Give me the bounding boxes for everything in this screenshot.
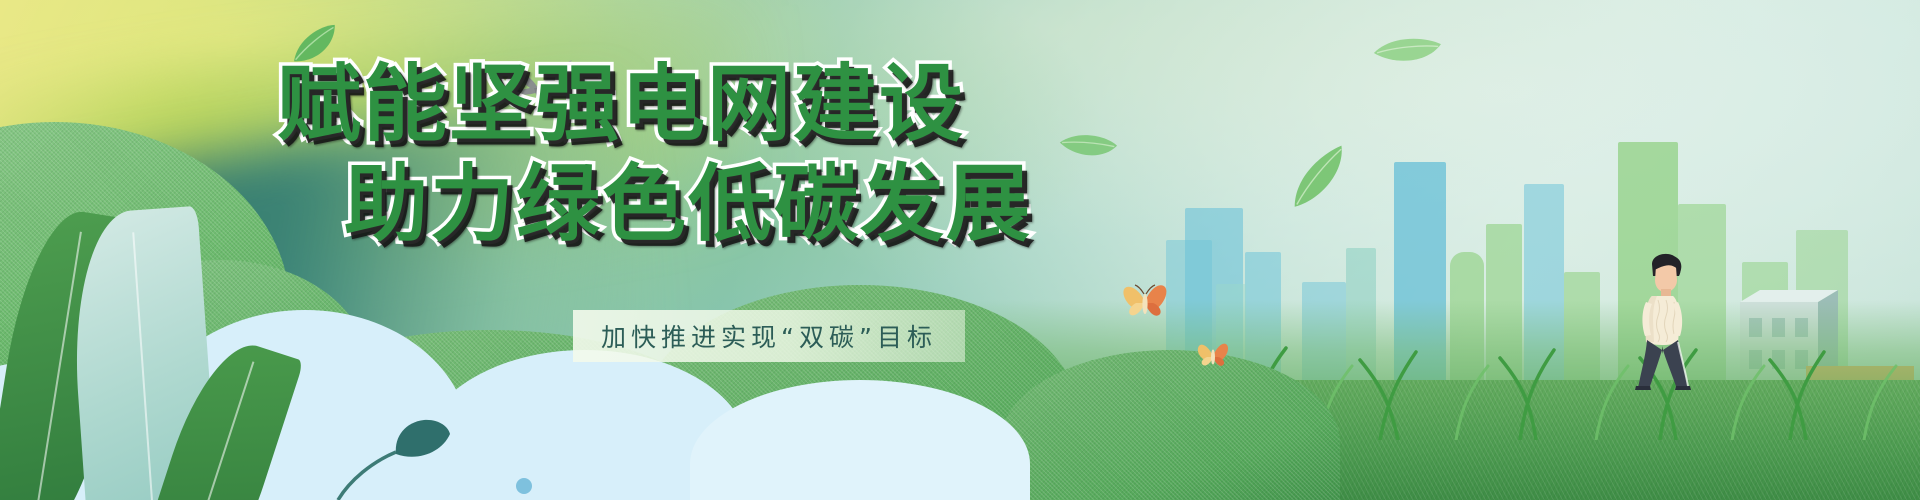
- walking-person: [1628, 250, 1706, 390]
- teal-leaf-stem: [320, 370, 460, 500]
- headline-block: 赋能坚强电网建设 助力绿色低碳发展: [0, 62, 1230, 247]
- subtitle-text: 加快推进实现“双碳”目标: [573, 310, 965, 362]
- headline-line-2: 助力绿色低碳发展: [146, 162, 1230, 248]
- butterfly-small-icon: [1196, 340, 1230, 370]
- leaf-vein: [35, 231, 82, 500]
- eco-power-grid-banner: 赋能坚强电网建设 助力绿色低碳发展 加快推进实现“双碳”目标: [0, 0, 1920, 500]
- blue-accent-dot: [516, 478, 532, 494]
- butterfly-large-icon: [1122, 280, 1168, 322]
- headline-line-1: 赋能坚强电网建设: [12, 62, 1230, 148]
- leaf-vein: [132, 232, 156, 500]
